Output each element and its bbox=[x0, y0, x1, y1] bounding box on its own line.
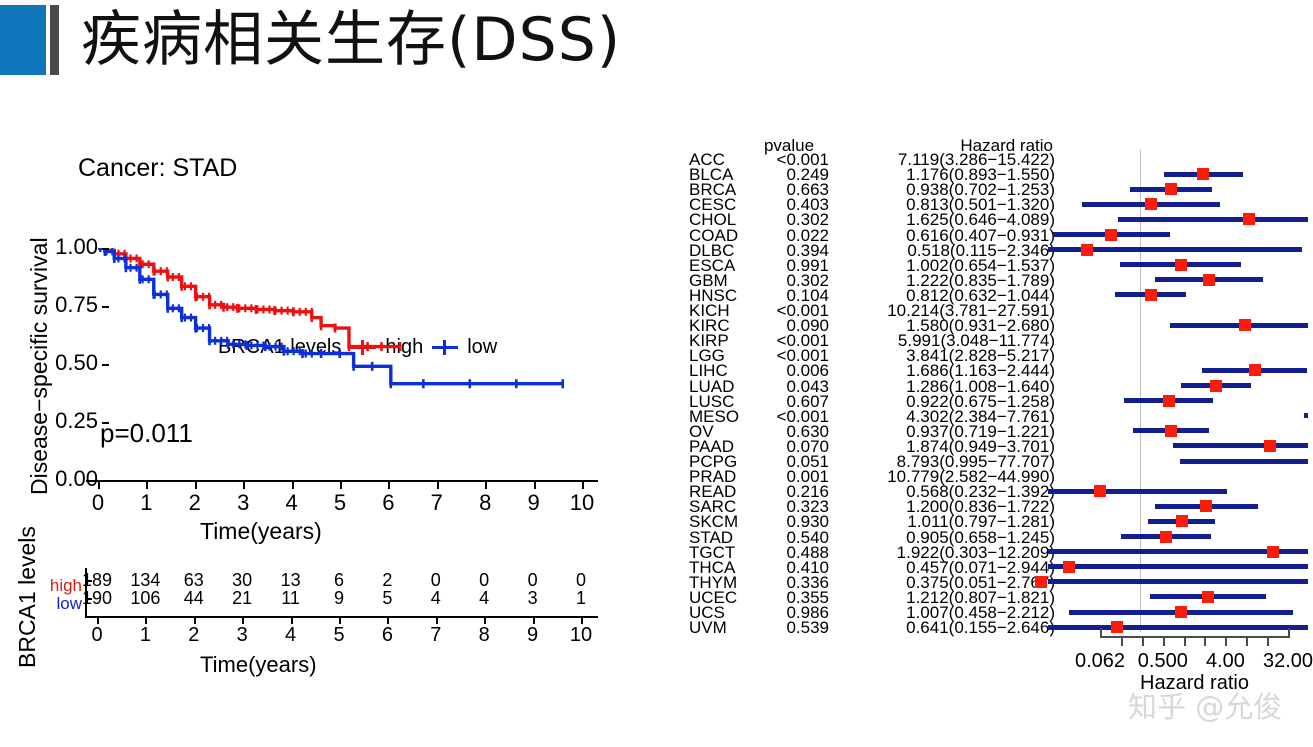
km-x-tick-label: 7 bbox=[417, 490, 457, 516]
forest-row-hazard-ratio: 0.641(0.155−2.646) bbox=[845, 618, 1055, 638]
risk-x-tick-label: 7 bbox=[414, 624, 458, 647]
forest-hr-box bbox=[1267, 546, 1279, 558]
forest-hr-box bbox=[1105, 229, 1117, 241]
km-y-tick-label: 0.50 bbox=[36, 350, 98, 376]
forest-hr-box bbox=[1200, 500, 1212, 512]
forest-hr-box bbox=[1165, 183, 1177, 195]
forest-axis-tick bbox=[1225, 638, 1227, 646]
km-x-tick-label: 10 bbox=[562, 490, 602, 516]
forest-ci-line bbox=[1048, 489, 1227, 494]
page-title: 疾病相关生存(DSS) bbox=[81, 10, 621, 70]
km-x-tick-mark bbox=[98, 482, 100, 489]
title-accent-tick bbox=[50, 5, 59, 75]
forest-ci-line bbox=[1048, 579, 1308, 584]
km-y-tick-mark bbox=[102, 480, 109, 482]
forest-hr-box bbox=[1063, 561, 1075, 573]
km-y-tick-label: 0.75 bbox=[36, 292, 98, 318]
km-x-tick-mark bbox=[534, 482, 536, 489]
km-x-tick-label: 6 bbox=[368, 490, 408, 516]
forest-hr-box bbox=[1239, 319, 1251, 331]
forest-row-cancer-label: UVM bbox=[689, 618, 727, 638]
km-x-tick-mark bbox=[437, 482, 439, 489]
km-x-tick-label: 9 bbox=[514, 490, 554, 516]
risk-table-bottom-axis bbox=[85, 616, 598, 618]
risk-x-tick-label: 9 bbox=[511, 624, 555, 647]
risk-x-tick-label: 8 bbox=[462, 624, 506, 647]
risk-x-tick-label: 1 bbox=[123, 624, 167, 647]
risk-count-cell: 5 bbox=[365, 588, 409, 609]
risk-count-cell: 3 bbox=[511, 588, 555, 609]
km-x-tick-label: 2 bbox=[175, 490, 215, 516]
risk-x-tick-label: 3 bbox=[220, 624, 264, 647]
forest-hr-box bbox=[1081, 244, 1093, 256]
km-x-tick-mark bbox=[195, 482, 197, 489]
risk-x-tick-label: 10 bbox=[559, 624, 603, 647]
km-x-tick-mark bbox=[485, 482, 487, 489]
km-x-tick-label: 3 bbox=[223, 490, 263, 516]
risk-count-cell: 21 bbox=[220, 588, 264, 609]
km-y-tick-label: 1.00 bbox=[36, 234, 98, 260]
forest-ci-line bbox=[1118, 217, 1308, 222]
forest-ci-line bbox=[1048, 564, 1308, 569]
risk-count-cell: 190 bbox=[75, 588, 119, 609]
km-x-tick-mark bbox=[146, 482, 148, 489]
forest-hr-box bbox=[1163, 395, 1175, 407]
forest-hr-box bbox=[1035, 576, 1047, 588]
forest-hr-box bbox=[1094, 485, 1106, 497]
forest-plot-panel: pvalue Hazard ratio ACC<0.0017.119(3.286… bbox=[685, 136, 1313, 696]
km-x-tick-label: 0 bbox=[78, 490, 118, 516]
risk-x-tick-label: 4 bbox=[269, 624, 313, 647]
forest-ci-line bbox=[1180, 459, 1308, 464]
forest-row-pvalue: 0.539 bbox=[737, 618, 829, 638]
km-x-tick-mark bbox=[582, 482, 584, 489]
forest-axis-tick bbox=[1184, 638, 1186, 646]
km-y-tick-label: 0.00 bbox=[36, 466, 98, 492]
risk-x-tick-label: 5 bbox=[317, 624, 361, 647]
forest-hr-box bbox=[1145, 289, 1157, 301]
forest-hr-box bbox=[1202, 591, 1214, 603]
risk-count-cell: 9 bbox=[317, 588, 361, 609]
km-y-tick-label: 0.25 bbox=[36, 408, 98, 434]
risk-count-cell: 106 bbox=[123, 588, 167, 609]
risk-table-x-label: Time(years) bbox=[200, 652, 317, 678]
risk-count-cell: 1 bbox=[559, 588, 603, 609]
forest-hr-box bbox=[1111, 621, 1123, 633]
risk-count-cell: 4 bbox=[462, 588, 506, 609]
km-x-tick-label: 8 bbox=[465, 490, 505, 516]
forest-plot-area bbox=[1050, 136, 1305, 636]
forest-axis-tick bbox=[1100, 628, 1102, 638]
watermark: 知乎 @允俊 bbox=[1128, 684, 1282, 726]
title-accent-square bbox=[0, 5, 46, 75]
km-curves-svg bbox=[86, 248, 586, 480]
forest-hr-box bbox=[1176, 515, 1188, 527]
forest-hr-box bbox=[1197, 168, 1209, 180]
forest-ci-line bbox=[1048, 625, 1308, 630]
forest-hr-box bbox=[1175, 606, 1187, 618]
km-x-tick-mark bbox=[243, 482, 245, 489]
km-cancer-title: Cancer: STAD bbox=[78, 154, 237, 183]
km-y-tick-mark bbox=[102, 248, 109, 250]
km-x-tick-mark bbox=[292, 482, 294, 489]
km-y-tick-mark bbox=[102, 422, 109, 424]
forest-hr-box bbox=[1249, 364, 1261, 376]
forest-hr-box bbox=[1243, 213, 1255, 225]
slide-title-bar: 疾病相关生存(DSS) bbox=[0, 4, 621, 76]
forest-x-axis-line bbox=[1100, 636, 1288, 638]
forest-axis-label: 32.00 bbox=[1248, 650, 1313, 673]
forest-axis-tick bbox=[1204, 638, 1206, 646]
forest-hr-box bbox=[1165, 425, 1177, 437]
km-x-tick-label: 4 bbox=[272, 490, 312, 516]
km-x-axis-line bbox=[86, 480, 598, 482]
risk-x-tick-label: 2 bbox=[172, 624, 216, 647]
km-y-tick-mark bbox=[102, 306, 109, 308]
forest-axis-tick bbox=[1121, 638, 1123, 646]
forest-hr-box bbox=[1175, 259, 1187, 271]
forest-ci-line bbox=[1304, 413, 1308, 418]
km-x-tick-label: 5 bbox=[320, 490, 360, 516]
forest-axis-tick bbox=[1246, 638, 1248, 646]
forest-hr-box bbox=[1264, 440, 1276, 452]
risk-count-cell: 11 bbox=[269, 588, 313, 609]
forest-reference-line bbox=[1140, 150, 1141, 632]
forest-axis-tick bbox=[1163, 638, 1165, 646]
forest-ci-line bbox=[1173, 443, 1308, 448]
risk-table: BRCA1 levels high189134633013620000low19… bbox=[0, 540, 640, 670]
risk-count-cell: 4 bbox=[414, 588, 458, 609]
km-y-tick-mark bbox=[102, 364, 109, 366]
km-plot-area bbox=[86, 248, 586, 480]
risk-x-tick-label: 6 bbox=[365, 624, 409, 647]
risk-x-tick-label: 0 bbox=[75, 624, 119, 647]
forest-hr-box bbox=[1145, 198, 1157, 210]
km-x-tick-label: 1 bbox=[126, 490, 166, 516]
risk-count-cell: 44 bbox=[172, 588, 216, 609]
forest-axis-tick bbox=[1288, 628, 1290, 638]
forest-hr-box bbox=[1203, 274, 1215, 286]
km-x-tick-mark bbox=[388, 482, 390, 489]
forest-axis-tick bbox=[1267, 638, 1269, 646]
forest-hr-box bbox=[1160, 531, 1172, 543]
forest-hr-box bbox=[1210, 380, 1222, 392]
forest-axis-tick bbox=[1142, 638, 1144, 646]
km-x-tick-mark bbox=[340, 482, 342, 489]
